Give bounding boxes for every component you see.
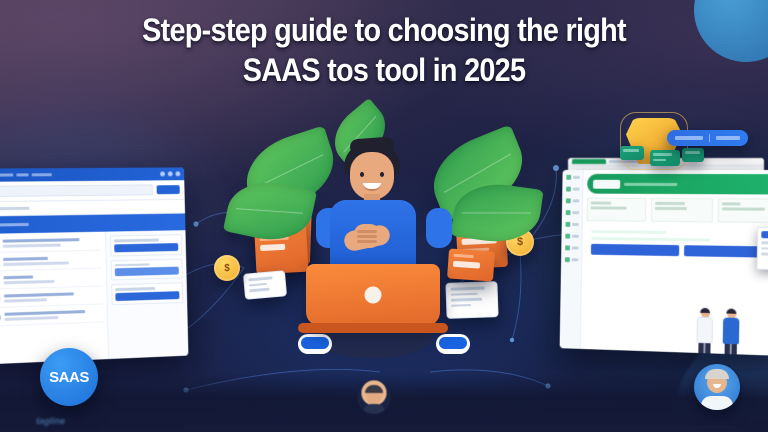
row-subtitle xyxy=(4,298,47,302)
promo-banner[interactable] xyxy=(587,174,768,195)
stat-card[interactable] xyxy=(651,198,713,223)
detail-card-tag xyxy=(761,231,768,238)
primary-action-button[interactable] xyxy=(157,185,180,194)
right-dash-main xyxy=(581,170,768,356)
menu-item[interactable] xyxy=(16,173,28,176)
left-dashboard-window[interactable] xyxy=(0,167,188,364)
hero-banner: Step-step guide to choosing the right SA… xyxy=(0,0,768,432)
list-item[interactable] xyxy=(0,253,102,272)
left-dash-body xyxy=(0,230,188,364)
browser-tab[interactable] xyxy=(572,159,606,164)
person-left-figure xyxy=(696,309,713,356)
stat-row xyxy=(587,198,768,224)
shoe-left xyxy=(298,334,332,354)
laptop-base xyxy=(298,323,448,333)
sleeve-right xyxy=(426,208,452,248)
sidebar-item[interactable] xyxy=(565,197,579,204)
face xyxy=(350,152,394,200)
green-panel-sub xyxy=(591,237,711,242)
list-item[interactable] xyxy=(0,306,104,326)
title-line-2: SAAS tos tool in 2025 xyxy=(38,50,729,90)
left-dash-list xyxy=(0,232,108,365)
right-dash-sidebar xyxy=(560,170,584,349)
left-dash-topbar-icons xyxy=(160,171,180,176)
green-panel-title xyxy=(591,230,667,234)
list-item[interactable] xyxy=(0,271,103,290)
list-item[interactable] xyxy=(0,289,103,309)
row-title xyxy=(4,310,85,316)
side-card-button[interactable] xyxy=(115,267,179,277)
cta-primary-button[interactable] xyxy=(591,244,679,256)
laptop-logo-icon xyxy=(365,287,382,304)
shoe-right xyxy=(436,334,470,354)
person-right-figure xyxy=(722,309,739,355)
sidebar-item[interactable] xyxy=(564,256,577,263)
sidebar-item[interactable] xyxy=(565,233,578,240)
row-title xyxy=(4,292,73,297)
pill-label-right xyxy=(716,136,740,140)
teal-card[interactable] xyxy=(620,146,644,160)
side-card-label xyxy=(115,287,155,291)
side-card-label xyxy=(114,239,159,242)
smile xyxy=(363,183,381,191)
pill-label-left xyxy=(675,136,703,140)
menu-item[interactable] xyxy=(32,173,52,176)
row-subtitle xyxy=(5,316,59,320)
eye-left xyxy=(360,172,364,177)
side-card-button[interactable] xyxy=(114,243,178,252)
teal-card[interactable] xyxy=(682,148,704,162)
presenter-avatar[interactable] xyxy=(694,364,740,410)
grid-icon[interactable] xyxy=(168,171,173,176)
eye-right xyxy=(380,172,384,177)
left-dash-side-panel xyxy=(105,230,188,359)
row-subtitle xyxy=(3,261,69,265)
row-title xyxy=(4,275,33,279)
orange-laptop xyxy=(306,264,440,326)
saas-badge[interactable]: SAAS xyxy=(40,348,98,406)
right-dashboard-window[interactable] xyxy=(560,170,768,356)
bell-icon[interactable] xyxy=(160,171,165,176)
search-input[interactable] xyxy=(0,184,153,197)
hand xyxy=(354,224,380,248)
sidebar-item[interactable] xyxy=(566,174,580,181)
green-panel-buttons xyxy=(591,244,768,258)
page-title: Step-step guide to choosing the right SA… xyxy=(0,10,768,91)
sidebar-item[interactable] xyxy=(565,209,579,216)
banner-chip xyxy=(593,179,620,188)
section-header-label xyxy=(0,223,29,227)
row-title xyxy=(3,257,48,261)
list-item[interactable] xyxy=(0,235,102,253)
row-subtitle xyxy=(3,244,61,248)
badge-tagline: tagline xyxy=(36,416,65,426)
title-line-1: Step-step guide to choosing the right xyxy=(38,10,729,50)
sidebar-item[interactable] xyxy=(565,244,578,251)
pill-divider xyxy=(709,134,710,142)
stat-card[interactable] xyxy=(587,198,647,222)
row-subtitle xyxy=(4,280,54,284)
center-illustration xyxy=(258,116,510,384)
row-title xyxy=(3,238,80,243)
side-card[interactable] xyxy=(110,234,182,256)
speaker-avatar[interactable] xyxy=(357,380,391,414)
left-dash-search-row xyxy=(0,180,185,202)
side-card-label xyxy=(115,263,150,266)
sidebar-item[interactable] xyxy=(565,221,578,228)
cta-secondary-button[interactable] xyxy=(684,245,768,258)
coin-left-bottom-icon[interactable]: $ xyxy=(214,255,240,281)
side-card[interactable] xyxy=(111,258,183,280)
banner-label xyxy=(624,182,677,185)
teal-card[interactable] xyxy=(650,150,680,166)
saas-badge-label: SAAS xyxy=(49,369,89,386)
top-right-pill-button[interactable] xyxy=(667,130,748,146)
detail-card[interactable] xyxy=(757,227,768,270)
side-card-button[interactable] xyxy=(116,291,180,301)
side-card[interactable] xyxy=(111,282,183,304)
row-avatar xyxy=(0,313,1,322)
hero-green-panel xyxy=(585,225,768,352)
sidebar-item[interactable] xyxy=(566,186,580,193)
menu-item[interactable] xyxy=(0,173,13,176)
filter-label xyxy=(0,207,29,211)
stat-card[interactable] xyxy=(717,198,768,223)
avatar-icon[interactable] xyxy=(175,171,180,176)
